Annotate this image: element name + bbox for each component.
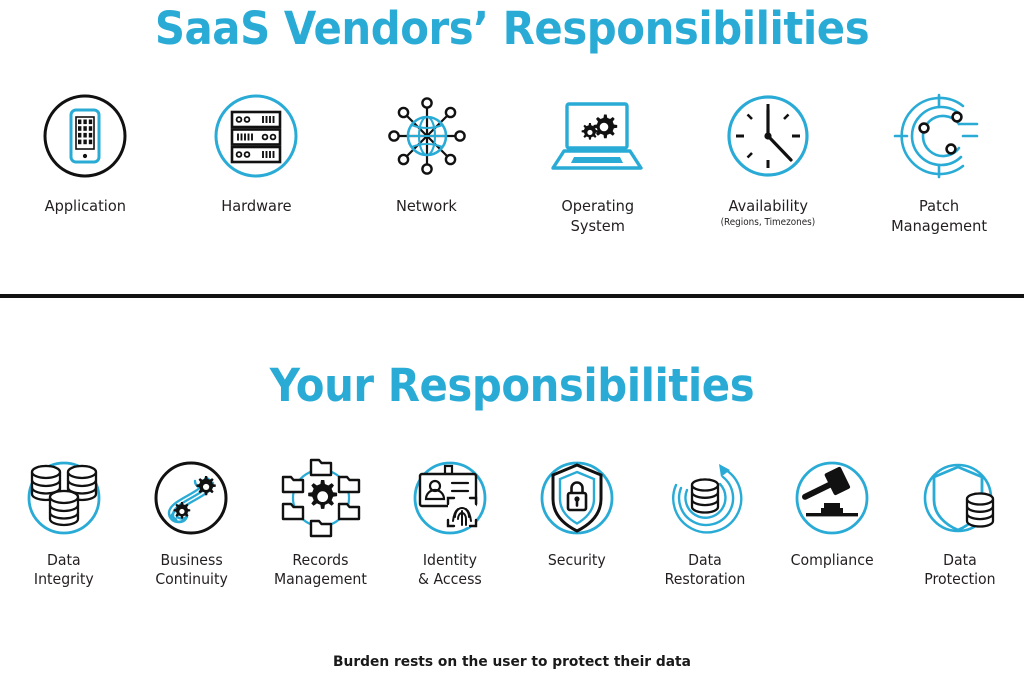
your-item-label: Data Integrity (34, 551, 94, 589)
your-item-compliance: Compliance (784, 452, 880, 570)
your-item-label: Identity & Access (418, 551, 482, 589)
vendor-item-label: Patch Management (891, 196, 987, 236)
your-item-data-protection: Data Protection (912, 452, 1008, 589)
vendor-item-application: Application (33, 86, 137, 216)
your-item-label: Security (548, 551, 606, 570)
section-divider (0, 294, 1024, 298)
your-item-business-continuity: Business Continuity (143, 452, 239, 589)
vendor-item-label: Application (45, 196, 126, 216)
shield-lock-icon (529, 452, 625, 544)
vendor-item-hardware: Hardware (204, 86, 308, 216)
your-item-label: Data Protection (924, 551, 995, 589)
smartphone-app-icon (33, 86, 137, 186)
footer-note: Burden rests on the user to protect thei… (26, 654, 999, 670)
patch-arcs-icon (887, 86, 991, 186)
database-refresh-icon (657, 452, 753, 544)
vendor-item-patch-management: Patch Management (887, 86, 991, 236)
vendor-item-network: Network (375, 86, 479, 216)
your-item-security: Security (529, 452, 625, 570)
folders-gear-icon (273, 452, 369, 544)
laptop-gears-icon (545, 86, 649, 186)
gavel-icon (784, 452, 880, 544)
infinity-gears-icon (143, 452, 239, 544)
your-item-label: Records Management (274, 551, 367, 589)
your-item-data-restoration: Data Restoration (657, 452, 753, 589)
database-stack-icon (16, 452, 112, 544)
your-item-identity-access: Identity & Access (402, 452, 498, 589)
your-item-label: Business Continuity (155, 551, 228, 589)
vendor-item-sublabel: (Regions, Timezones) (721, 217, 816, 229)
your-section-title: Your Responsibilities (36, 360, 988, 412)
vendor-item-label: Network (396, 196, 457, 216)
vendor-item-operating-system: Operating System (545, 86, 649, 236)
vendor-item-availability: Availability (Regions, Timezones) (716, 86, 820, 229)
your-responsibilities-row: Data Integrity (0, 452, 1024, 589)
id-badge-fingerprint-icon (402, 452, 498, 544)
clock-icon (716, 86, 820, 186)
vendor-item-label: Availability (728, 196, 807, 216)
your-item-label: Data Restoration (664, 551, 745, 589)
vendor-item-label: Hardware (221, 196, 291, 216)
your-item-data-integrity: Data Integrity (16, 452, 112, 589)
infographic-page: SaaS Vendors’ Responsibilities (0, 0, 1024, 683)
server-rack-icon (204, 86, 308, 186)
your-item-records-management: Records Management (271, 452, 370, 589)
vendor-item-label: Operating System (561, 196, 634, 236)
globe-network-icon (375, 86, 479, 186)
your-item-label: Compliance (791, 551, 874, 570)
vendor-section-title: SaaS Vendors’ Responsibilities (36, 3, 988, 55)
vendor-responsibilities-row: Application (0, 86, 1024, 236)
shield-database-icon (912, 452, 1008, 544)
